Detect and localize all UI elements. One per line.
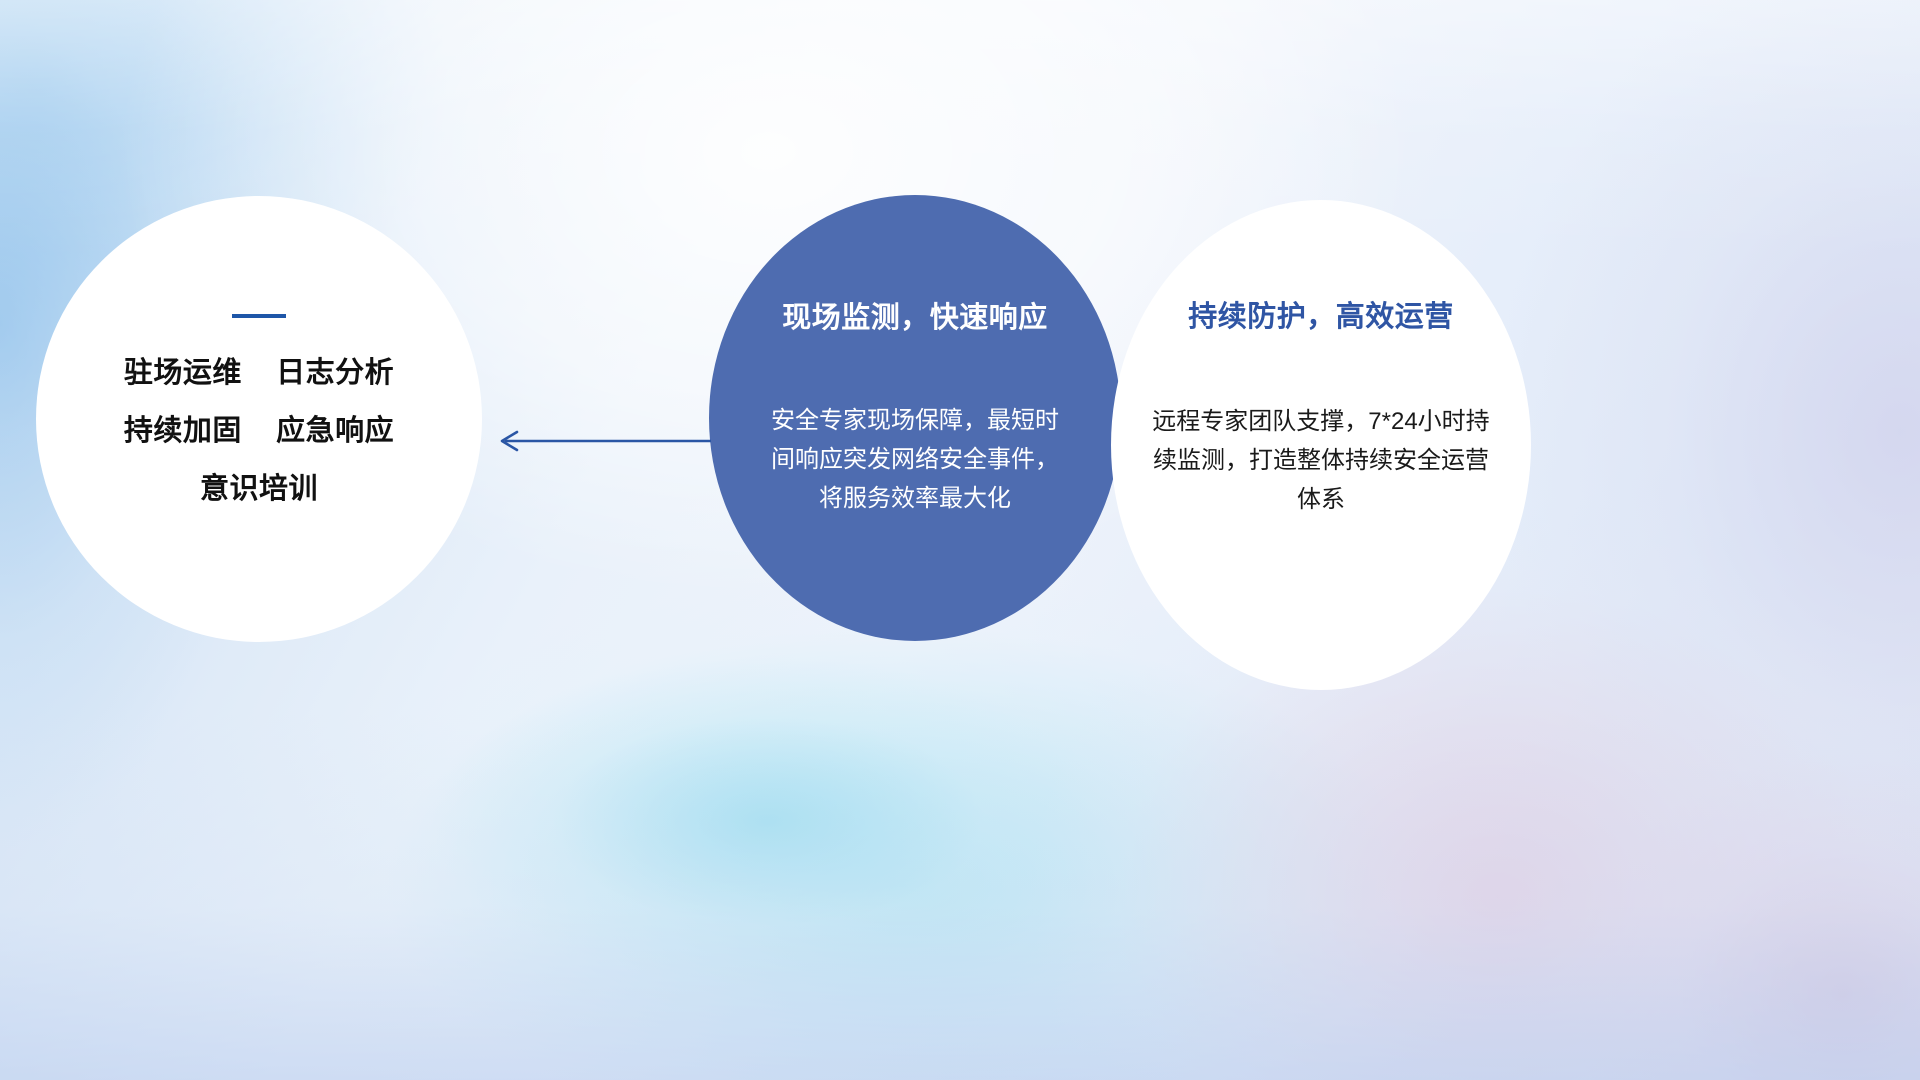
- capabilities-content: 驻场运维 日志分析 持续加固 应急响应 意识培训: [36, 196, 482, 642]
- capability-line-3: 意识培训: [200, 475, 318, 504]
- onsite-title: 现场监测，快速响应: [782, 301, 1048, 336]
- continuous-body-text: 远程专家团队支撑，7*24小时持续监测，打造整体持续安全运营体系: [1145, 403, 1497, 520]
- continuous-title: 持续防护，高效运营: [1188, 300, 1454, 335]
- continuous-content: 持续防护，高效运营 远程专家团队支撑，7*24小时持续监测，打造整体持续安全运营…: [1111, 200, 1531, 690]
- divider-dash-icon: [232, 314, 286, 318]
- flow-arrow-icon: [492, 424, 712, 458]
- onsite-monitoring-circle[interactable]: 现场监测，快速响应 安全专家现场保障，最短时间响应突发网络安全事件，将服务效率最…: [709, 195, 1121, 641]
- onsite-content: 现场监测，快速响应 安全专家现场保障，最短时间响应突发网络安全事件，将服务效率最…: [709, 195, 1121, 641]
- capabilities-circle[interactable]: 驻场运维 日志分析 持续加固 应急响应 意识培训: [36, 196, 482, 642]
- continuous-protection-circle[interactable]: 持续防护，高效运营 远程专家团队支撑，7*24小时持续监测，打造整体持续安全运营…: [1111, 200, 1531, 690]
- capability-line-1: 驻场运维 日志分析: [124, 359, 394, 388]
- slide-canvas: 驻场运维 日志分析 持续加固 应急响应 意识培训 现场监测，快速响应 安全专家现…: [0, 0, 1920, 1080]
- onsite-body-text: 安全专家现场保障，最短时间响应突发网络安全事件，将服务效率最大化: [760, 402, 1070, 519]
- capability-line-2: 持续加固 应急响应: [124, 417, 394, 446]
